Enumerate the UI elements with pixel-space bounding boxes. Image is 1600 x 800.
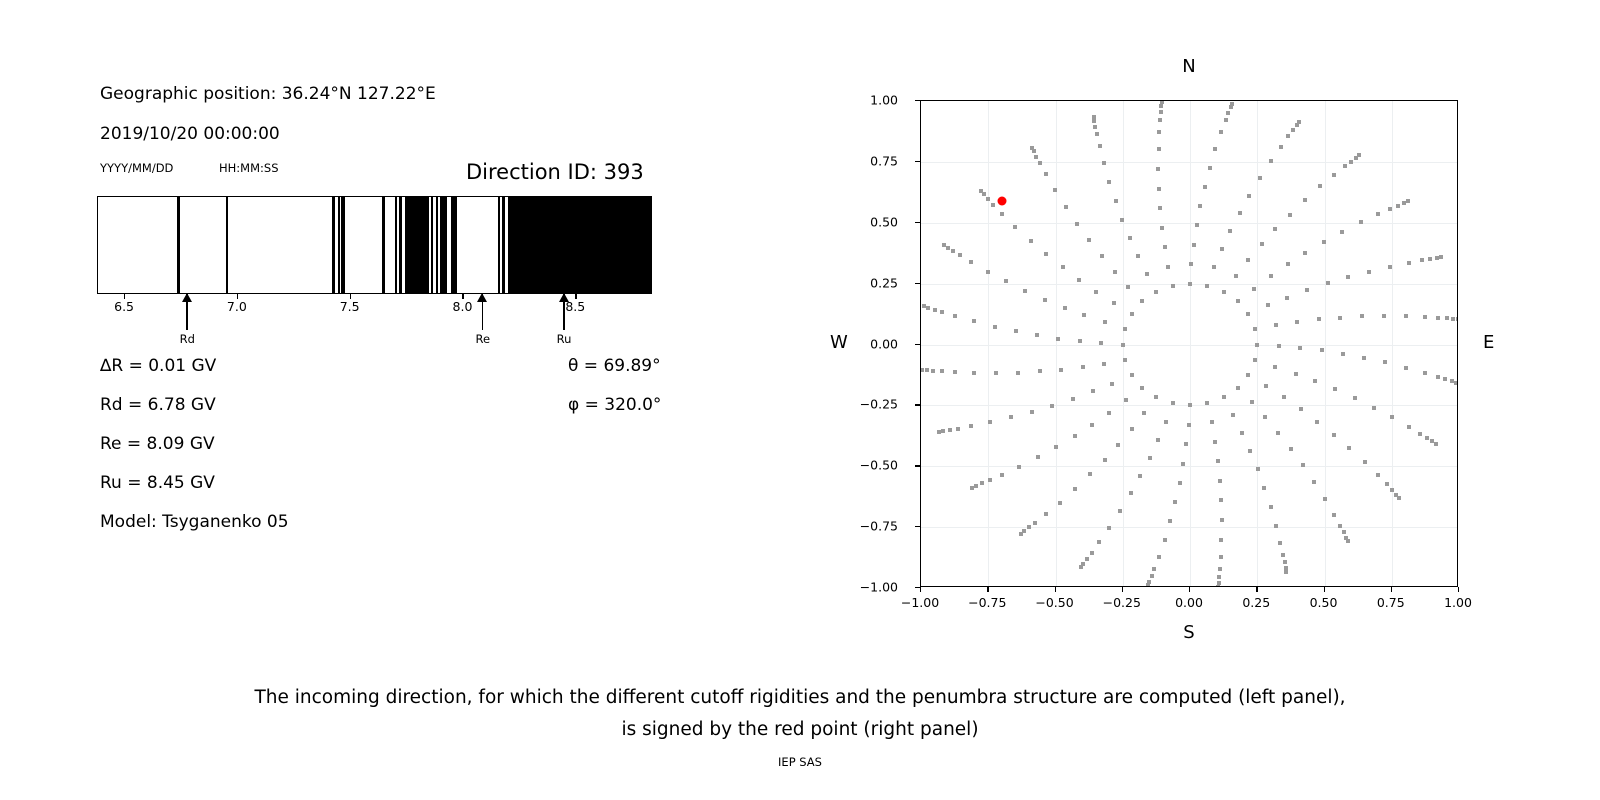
- direction-point: [1418, 432, 1422, 436]
- direction-point: [1136, 254, 1140, 258]
- direction-point: [1297, 120, 1301, 124]
- arrow-head-icon: [559, 293, 569, 302]
- direction-point: [1163, 538, 1167, 542]
- y-axis-tick-mark: [915, 161, 920, 162]
- direction-point: [926, 306, 930, 310]
- direction-point: [1123, 358, 1127, 362]
- direction-point: [1299, 407, 1303, 411]
- direction-point: [1333, 387, 1337, 391]
- direction-point: [1044, 512, 1048, 516]
- direction-point: [1250, 400, 1254, 404]
- caption-line-2: is signed by the red point (right panel): [0, 714, 1600, 746]
- direction-point: [1171, 401, 1175, 405]
- direction-point: [1388, 265, 1392, 269]
- direction-point: [1349, 160, 1353, 164]
- direction-point: [1318, 184, 1322, 188]
- direction-point: [1372, 406, 1376, 410]
- direction-point: [1203, 185, 1207, 189]
- direction-point: [991, 203, 995, 207]
- penumbra-band: [508, 197, 652, 293]
- direction-point: [1091, 389, 1095, 393]
- direction-point: [1390, 415, 1394, 419]
- x-axis-tick-label: 1.00: [1444, 595, 1472, 610]
- direction-point: [1279, 145, 1283, 149]
- direction-point: [1030, 146, 1034, 150]
- gridline-vertical: [988, 101, 989, 586]
- direction-point: [1154, 395, 1158, 399]
- direction-point: [1326, 281, 1330, 285]
- direction-point: [925, 368, 929, 372]
- direction-point: [1229, 105, 1233, 109]
- direction-point: [1277, 344, 1281, 348]
- direction-point: [988, 420, 992, 424]
- y-axis-tick-label: −1.00: [860, 580, 898, 595]
- direction-point: [1148, 456, 1152, 460]
- y-axis-tick-label: 0.75: [870, 153, 898, 168]
- direction-point: [1000, 212, 1004, 216]
- direction-point: [1095, 132, 1099, 136]
- direction-point: [1423, 315, 1427, 319]
- direction-point: [1128, 236, 1132, 240]
- direction-point: [1205, 401, 1209, 405]
- gridline-vertical: [1056, 101, 1057, 586]
- direction-point: [1248, 449, 1252, 453]
- rigidity-marker-label: Rd: [180, 332, 195, 346]
- direction-point: [1082, 313, 1086, 317]
- direction-point: [1236, 299, 1240, 303]
- direction-point: [1061, 265, 1065, 269]
- penumbra-band: [502, 197, 505, 293]
- direction-point: [1107, 411, 1111, 415]
- x-axis-tick-mark: [920, 587, 921, 592]
- direction-point: [1099, 341, 1103, 345]
- direction-point: [942, 243, 946, 247]
- x-axis-tick-mark: [1055, 587, 1056, 592]
- penumbra-band: [440, 197, 447, 293]
- direction-point: [1445, 316, 1449, 320]
- direction-point: [1284, 570, 1288, 574]
- y-axis-tick-label: 0.50: [870, 214, 898, 229]
- y-axis-tick-label: −0.50: [860, 458, 898, 473]
- param-ru: Ru = 8.45 GV: [100, 473, 215, 493]
- y-axis-tick-label: 1.00: [870, 93, 898, 108]
- direction-point: [1219, 498, 1223, 502]
- x-axis-tick-label: −0.25: [1103, 595, 1141, 610]
- penumbra-band: [399, 197, 402, 293]
- direction-point: [1158, 118, 1162, 122]
- direction-point: [1188, 282, 1192, 286]
- direction-point: [1347, 446, 1351, 450]
- direction-point: [1088, 472, 1092, 476]
- direction-point: [1291, 128, 1295, 132]
- direction-point: [1033, 521, 1037, 525]
- direction-point: [1376, 473, 1380, 477]
- compass-west-label: W: [830, 332, 848, 353]
- direction-point: [1343, 164, 1347, 168]
- direction-point: [933, 308, 937, 312]
- direction-point: [979, 189, 983, 193]
- x-axis-tick-mark: [1189, 587, 1190, 592]
- direction-point: [1260, 242, 1264, 246]
- direction-point: [1301, 463, 1305, 467]
- direction-point: [1017, 465, 1021, 469]
- arrow-head-icon: [182, 293, 192, 302]
- direction-point: [1220, 247, 1224, 251]
- direction-point: [1258, 176, 1262, 180]
- x-axis-tick-label: −1.00: [901, 595, 939, 610]
- y-axis-tick-label: −0.25: [860, 397, 898, 412]
- direction-point: [1157, 130, 1161, 134]
- direction-point: [986, 197, 990, 201]
- direction-point: [1130, 427, 1134, 431]
- y-axis-tick-mark: [915, 465, 920, 466]
- direction-point: [1247, 194, 1251, 198]
- direction-point: [1000, 473, 1004, 477]
- x-axis-tick-label: 0.25: [1242, 595, 1270, 610]
- direction-point: [1163, 245, 1167, 249]
- direction-point: [951, 249, 955, 253]
- direction-point: [1278, 541, 1282, 545]
- direction-point: [953, 314, 957, 318]
- direction-point: [1092, 115, 1096, 119]
- direction-point: [994, 371, 998, 375]
- penumbra-axis: 6.57.07.58.08.5RdReRu: [97, 294, 652, 346]
- geographic-position: Geographic position: 36.24°N 127.22°E: [100, 84, 436, 104]
- direction-point: [931, 369, 935, 373]
- param-model: Model: Tsyganenko 05: [100, 512, 289, 532]
- param-delta-r: ∆R = 0.01 GV: [100, 356, 216, 376]
- direction-point: [1035, 333, 1039, 337]
- y-axis-tick-label: −0.75: [860, 519, 898, 534]
- direction-point: [1341, 352, 1345, 356]
- direction-point: [1034, 155, 1038, 159]
- direction-point: [1406, 199, 1410, 203]
- direction-point: [1269, 505, 1273, 509]
- direction-point: [1216, 459, 1220, 463]
- direction-point: [1019, 532, 1023, 536]
- direction-point: [937, 430, 941, 434]
- direction-point: [1085, 557, 1089, 561]
- rigidity-marker-label: Ru: [557, 332, 572, 346]
- direction-point: [940, 369, 944, 373]
- direction-point: [972, 371, 976, 375]
- direction-point: [1138, 474, 1142, 478]
- direction-point: [1288, 213, 1292, 217]
- direction-point: [1157, 147, 1161, 151]
- direction-point: [1240, 431, 1244, 435]
- direction-point: [1079, 565, 1083, 569]
- x-axis-tick-label: 0.75: [1377, 595, 1405, 610]
- direction-point: [1059, 368, 1063, 372]
- direction-point: [1289, 447, 1293, 451]
- direction-point: [1073, 487, 1077, 491]
- direction-point: [1087, 238, 1091, 242]
- gridline-horizontal: [921, 223, 1457, 224]
- direction-point: [1332, 513, 1336, 517]
- direction-point: [1332, 433, 1336, 437]
- direction-point: [1054, 445, 1058, 449]
- penumbra-tick-label: 7.5: [340, 299, 360, 314]
- direction-point: [1274, 524, 1278, 528]
- direction-point: [1456, 317, 1458, 321]
- direction-point: [1145, 272, 1149, 276]
- gridline-horizontal: [921, 527, 1457, 528]
- direction-point: [1210, 420, 1214, 424]
- figure-caption: The incoming direction, for which the di…: [0, 682, 1600, 746]
- direction-point: [1081, 365, 1085, 369]
- x-axis-tick-mark: [1458, 587, 1459, 592]
- direction-point: [1078, 339, 1082, 343]
- direction-point: [1362, 356, 1366, 360]
- direction-point: [1313, 379, 1317, 383]
- direction-point: [1157, 187, 1161, 191]
- direction-point: [1009, 415, 1013, 419]
- direction-point: [1077, 278, 1081, 282]
- direction-point: [1116, 443, 1120, 447]
- y-axis-tick-mark: [915, 222, 920, 223]
- direction-point: [1219, 555, 1223, 559]
- direction-point: [1030, 410, 1034, 414]
- y-axis-tick-mark: [915, 344, 920, 345]
- direction-point: [1157, 555, 1161, 559]
- compass-south-label: S: [1183, 622, 1194, 643]
- direction-point: [1423, 371, 1427, 375]
- direction-point: [1140, 386, 1144, 390]
- direction-point: [1255, 343, 1259, 347]
- direction-point: [1044, 252, 1048, 256]
- x-axis-tick-mark: [1122, 587, 1123, 592]
- y-axis-tick-mark: [915, 100, 920, 101]
- direction-point: [1404, 314, 1408, 318]
- penumbra-band: [382, 197, 385, 293]
- direction-point: [1173, 500, 1177, 504]
- direction-point: [1273, 227, 1277, 231]
- direction-point: [1219, 130, 1223, 134]
- gridline-vertical: [1325, 101, 1326, 586]
- direction-point: [1390, 488, 1394, 492]
- direction-point: [1346, 539, 1350, 543]
- penumbra-band: [177, 197, 180, 293]
- direction-point: [1305, 288, 1309, 292]
- penumbra-band: [338, 197, 340, 293]
- direction-point: [1160, 226, 1164, 230]
- direction-point: [1407, 261, 1411, 265]
- arrow-head-icon: [477, 293, 487, 302]
- y-axis-tick-mark: [915, 283, 920, 284]
- direction-point: [1253, 358, 1257, 362]
- rigidity-marker-label: Re: [476, 332, 491, 346]
- direction-point: [1340, 230, 1344, 234]
- param-theta: θ = 69.89°: [568, 356, 661, 376]
- x-axis-tick-mark: [1324, 587, 1325, 592]
- direction-point: [1443, 377, 1447, 381]
- direction-point: [1152, 567, 1156, 571]
- penumbra-band: [332, 197, 335, 293]
- direction-point: [1256, 467, 1260, 471]
- direction-point: [1274, 323, 1278, 327]
- direction-point: [1303, 251, 1307, 255]
- gridline-horizontal: [921, 345, 1457, 346]
- direction-point: [1016, 371, 1020, 375]
- gridline-vertical: [1392, 101, 1393, 586]
- direction-point: [1266, 303, 1270, 307]
- direction-point: [1142, 411, 1146, 415]
- direction-point: [1383, 360, 1387, 364]
- direction-point: [1073, 434, 1077, 438]
- x-axis-tick-mark: [1391, 587, 1392, 592]
- direction-point: [1264, 384, 1268, 388]
- penumbra-band: [498, 197, 500, 293]
- direction-point: [1029, 239, 1033, 243]
- direction-point: [1320, 348, 1324, 352]
- gridline-horizontal: [921, 466, 1457, 467]
- direction-point: [1053, 188, 1057, 192]
- direction-point: [1252, 287, 1256, 291]
- direction-point: [1234, 274, 1238, 278]
- direction-point: [1228, 229, 1232, 233]
- direction-point: [1102, 362, 1106, 366]
- direction-point: [1044, 172, 1048, 176]
- direction-point: [1298, 346, 1302, 350]
- direction-point: [1187, 423, 1191, 427]
- penumbra-tick-label: 7.0: [227, 299, 247, 314]
- direction-point: [1058, 501, 1062, 505]
- compass-north-label: N: [1182, 56, 1195, 77]
- direction-point: [1317, 317, 1321, 321]
- direction-point: [1158, 206, 1162, 210]
- penumbra-tick-label: 6.5: [114, 299, 134, 314]
- direction-point: [1216, 585, 1220, 587]
- x-axis-tick-label: 0.50: [1310, 595, 1338, 610]
- direction-point: [1213, 147, 1217, 151]
- direction-point: [969, 260, 973, 264]
- gridline-horizontal: [921, 162, 1457, 163]
- direction-id-label: Direction ID: 393: [466, 160, 644, 184]
- direction-point: [1246, 312, 1250, 316]
- direction-point: [1420, 258, 1424, 262]
- direction-point: [993, 325, 997, 329]
- direction-point: [1038, 369, 1042, 373]
- direction-point: [1107, 180, 1111, 184]
- direction-point: [1425, 436, 1429, 440]
- direction-point: [1166, 265, 1170, 269]
- direction-point: [1156, 438, 1160, 442]
- direction-point: [1123, 327, 1127, 331]
- selected-direction-point[interactable]: [997, 196, 1006, 205]
- direction-point: [1246, 373, 1250, 377]
- right-panel: N S W E −1.00−0.75−0.50−0.250.000.250.50…: [760, 0, 1600, 660]
- direction-point: [1338, 524, 1342, 528]
- y-axis-tick-mark: [915, 404, 920, 405]
- direction-point: [1188, 403, 1192, 407]
- direction-point: [1428, 257, 1432, 261]
- date-format-hint: YYYY/MM/DD: [100, 161, 173, 175]
- direction-point: [1036, 455, 1040, 459]
- direction-point: [1181, 462, 1185, 466]
- direction-point: [1436, 375, 1440, 379]
- direction-point: [1346, 275, 1350, 279]
- direction-point: [1213, 440, 1217, 444]
- direction-point: [1004, 279, 1008, 283]
- direction-point: [1118, 509, 1122, 513]
- direction-point: [1454, 381, 1458, 385]
- penumbra-band: [451, 197, 457, 293]
- direction-point: [1396, 204, 1400, 208]
- direction-point: [1189, 262, 1193, 266]
- direction-point: [920, 368, 924, 372]
- direction-point: [974, 484, 978, 488]
- direction-point: [940, 310, 944, 314]
- sky-map-plot: [920, 100, 1458, 587]
- direction-point: [1107, 526, 1111, 530]
- penumbra-band: [405, 197, 429, 293]
- direction-point: [1357, 153, 1361, 157]
- direction-point: [1090, 423, 1094, 427]
- direction-point: [1315, 420, 1319, 424]
- direction-point: [1130, 312, 1134, 316]
- direction-point: [986, 270, 990, 274]
- direction-point: [1112, 301, 1116, 305]
- direction-point: [1098, 144, 1102, 148]
- caption-line-1: The incoming direction, for which the di…: [0, 682, 1600, 714]
- direction-point: [1124, 398, 1128, 402]
- direction-point: [1230, 102, 1234, 106]
- direction-point: [1312, 480, 1316, 484]
- direction-point: [1276, 431, 1280, 435]
- direction-point: [1208, 166, 1212, 170]
- direction-point: [1103, 320, 1107, 324]
- direction-point: [1092, 119, 1096, 123]
- y-axis-tick-mark: [915, 526, 920, 527]
- direction-point: [1178, 481, 1182, 485]
- direction-point: [1338, 316, 1342, 320]
- direction-point: [1363, 460, 1367, 464]
- direction-point: [1198, 204, 1202, 208]
- direction-point: [1120, 218, 1124, 222]
- direction-point: [1382, 314, 1386, 318]
- direction-point: [1295, 320, 1299, 324]
- direction-point: [1285, 296, 1289, 300]
- direction-point: [1222, 290, 1226, 294]
- direction-point: [1038, 161, 1042, 165]
- direction-point: [1322, 240, 1326, 244]
- direction-point: [1238, 211, 1242, 215]
- x-axis-tick-label: −0.75: [968, 595, 1006, 610]
- direction-point: [1439, 255, 1443, 259]
- direction-point: [1064, 205, 1068, 209]
- direction-point: [1283, 560, 1287, 564]
- direction-point: [1100, 254, 1104, 258]
- direction-point: [1192, 243, 1196, 247]
- direction-point: [972, 319, 976, 323]
- compass-east-label: E: [1483, 332, 1494, 353]
- direction-point: [1220, 518, 1224, 522]
- direction-point: [1359, 220, 1363, 224]
- direction-point: [1436, 316, 1440, 320]
- direction-point: [1075, 222, 1079, 226]
- direction-point: [1146, 583, 1150, 587]
- direction-point: [948, 428, 952, 432]
- direction-point: [1218, 479, 1222, 483]
- x-axis-tick-mark: [987, 587, 988, 592]
- param-rd: Rd = 6.78 GV: [100, 395, 216, 415]
- direction-point: [1043, 298, 1047, 302]
- penumbra-band: [395, 197, 397, 293]
- penumbra-band: [436, 197, 438, 293]
- direction-point: [1097, 540, 1101, 544]
- direction-point: [1376, 212, 1380, 216]
- direction-point: [956, 427, 960, 431]
